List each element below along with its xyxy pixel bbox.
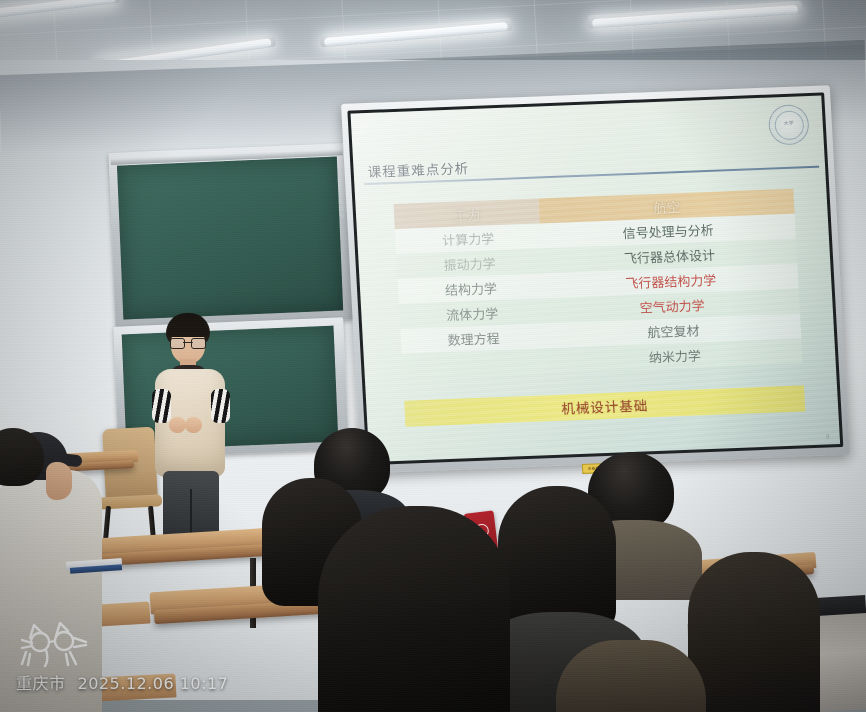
seal-inner-ring: 大学 (774, 110, 805, 140)
presenter-glasses (170, 338, 206, 347)
chalkboard-side-label: 教学设备编号 (335, 177, 346, 219)
presentation-slide: 大学 课程重难点分析 工力 航空 计算力学 信号处理与分析 振动力学 飞行器总体… (351, 96, 841, 463)
presenter (145, 313, 237, 558)
presenter-hand-right (185, 417, 202, 433)
footer-banner-text: 机械设计基础 (561, 394, 649, 417)
projector-screen: 大学 课程重难点分析 工力 航空 计算力学 信号处理与分析 振动力学 飞行器总体… (341, 85, 850, 473)
chalkboard-upper-surface (117, 157, 343, 320)
chalkboard-upper-frame: 教学设备编号 (108, 143, 353, 329)
presenter-hand-left (169, 417, 186, 433)
watermark-logo (16, 616, 112, 668)
student-face-left (46, 462, 72, 500)
presenter-sleeve-right (211, 389, 230, 423)
watermark-location: 重庆市 (16, 670, 66, 694)
presenter-sleeve-left (152, 389, 171, 423)
difficulty-analysis-table: 工力 航空 计算力学 信号处理与分析 振动力学 飞行器总体设计 结构力学 飞行器… (393, 189, 802, 379)
watermark-text: 重庆市 2025.12.06 10:17 (16, 670, 228, 694)
student-head-foreground-large (318, 506, 510, 712)
classroom-photo: 教学设备编号 大学 课程重难点分析 工力 航空 计算力学 信号处理与分析 (0, 0, 866, 712)
footer-banner: 机械设计基础 (404, 385, 805, 426)
presenter-fringe (168, 322, 208, 337)
watermark-datetime: 2025.12.06 10:17 (78, 674, 229, 693)
slide-title: 课程重难点分析 (367, 157, 470, 181)
slide-page-number: 8 (826, 433, 830, 440)
cell-left-6 (402, 348, 549, 379)
university-seal-logo: 大学 (768, 104, 810, 145)
student-head-far-right (688, 552, 820, 712)
